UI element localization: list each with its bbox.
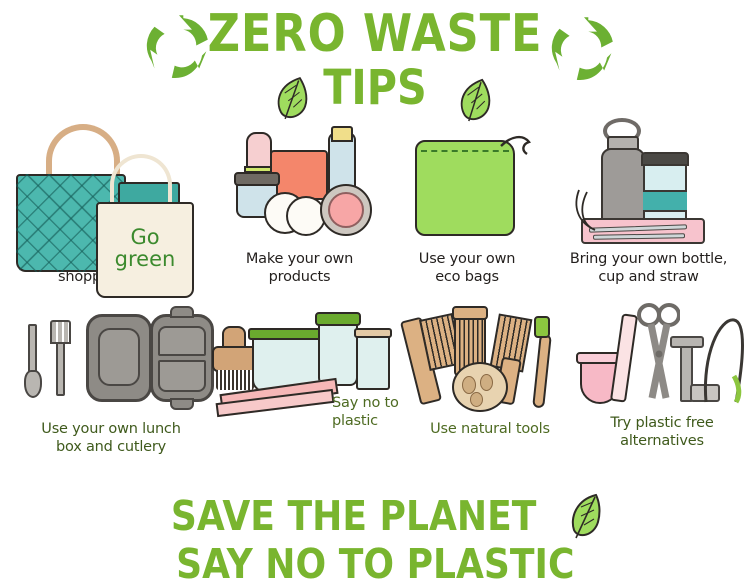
brush-wire-icon — [565, 188, 599, 232]
tip-caption: Use your own lunch box and cutlery — [2, 420, 220, 456]
tip-caption: Bring your own bottle, cup and straw — [547, 250, 750, 286]
tip-caption: Try plastic free alternatives — [574, 414, 750, 450]
tote-bag-text: Go green — [98, 226, 192, 270]
tongue-scraper-icon — [700, 314, 748, 406]
tip-card-eco-bags: Use your own eco bags — [387, 118, 547, 286]
scissors-icon — [636, 302, 680, 406]
drawstring-icon — [499, 130, 533, 166]
eco-bag-illustration — [387, 118, 547, 246]
tip-card-shopping-bag: Go green Bring your own shopping bag — [0, 118, 212, 286]
tip-caption: Say no to plastic — [332, 394, 402, 430]
banner-right-text: SAY NO TO PLASTIC — [176, 540, 574, 588]
leaf-icon — [568, 492, 602, 540]
title-block: ZERO WASTE TIPS — [0, 0, 750, 128]
tips-row-1: Go green Bring your own shopping bag — [0, 118, 750, 298]
tip-card-plastic-free: Try plastic free alternatives — [574, 300, 750, 450]
tip-caption: Use your own eco bags — [387, 250, 547, 286]
tip-caption: Use natural tools — [402, 420, 578, 438]
natural-tools-illustration — [402, 300, 578, 418]
tip-card-bottle-cup-straw: Bring your own bottle, cup and straw — [547, 118, 750, 286]
bottom-banner: SAVE THE PLANET SAY NO TO PLASTIC — [0, 492, 750, 562]
tote-bags-illustration: Go green — [0, 118, 212, 246]
tip-card-natural-tools: Use natural tools — [402, 300, 578, 438]
tip-caption: Make your own products — [212, 250, 387, 286]
plastic-free-illustration — [574, 300, 750, 412]
recycle-icon — [545, 10, 623, 82]
tip-card-no-plastic: Say no to plastic — [206, 300, 402, 420]
cosmetics-illustration — [212, 118, 387, 246]
tips-row-2: Use your own lunch box and cutlery Say n… — [0, 300, 750, 478]
bottle-cup-straw-illustration — [547, 118, 750, 246]
lunch-box-illustration — [2, 300, 220, 418]
tip-card-lunch-box: Use your own lunch box and cutlery — [2, 300, 220, 456]
zero-waste-poster: ZERO WASTE TIPS — [0, 0, 750, 577]
tip-card-own-products: Make your own products — [212, 118, 387, 286]
banner-left-text: SAVE THE PLANET — [171, 492, 536, 540]
